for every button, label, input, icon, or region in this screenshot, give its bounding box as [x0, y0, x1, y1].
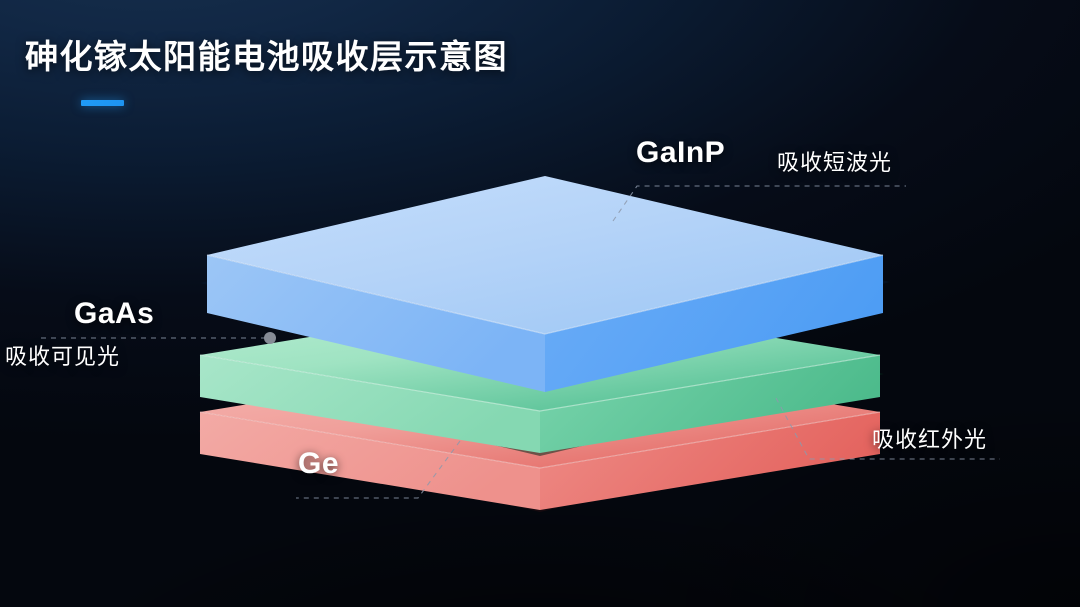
layer-label-gainp: GaInP — [636, 136, 725, 170]
title-accent-bar — [81, 100, 124, 106]
layer-description-gainp: 吸收短波光 — [777, 145, 892, 177]
layer-label-ge: Ge — [298, 447, 339, 481]
layer-description-ge: 吸收红外光 — [872, 422, 987, 454]
page-title: 砷化镓太阳能电池吸收层示意图 — [25, 30, 508, 78]
layer-label-gaas: GaAs — [74, 297, 154, 331]
layer-description-gaas: 吸收可见光 — [5, 339, 120, 371]
title-block: 砷化镓太阳能电池吸收层示意图 — [25, 30, 508, 106]
diagram-canvas: 砷化镓太阳能电池吸收层示意图 — [0, 0, 1080, 607]
